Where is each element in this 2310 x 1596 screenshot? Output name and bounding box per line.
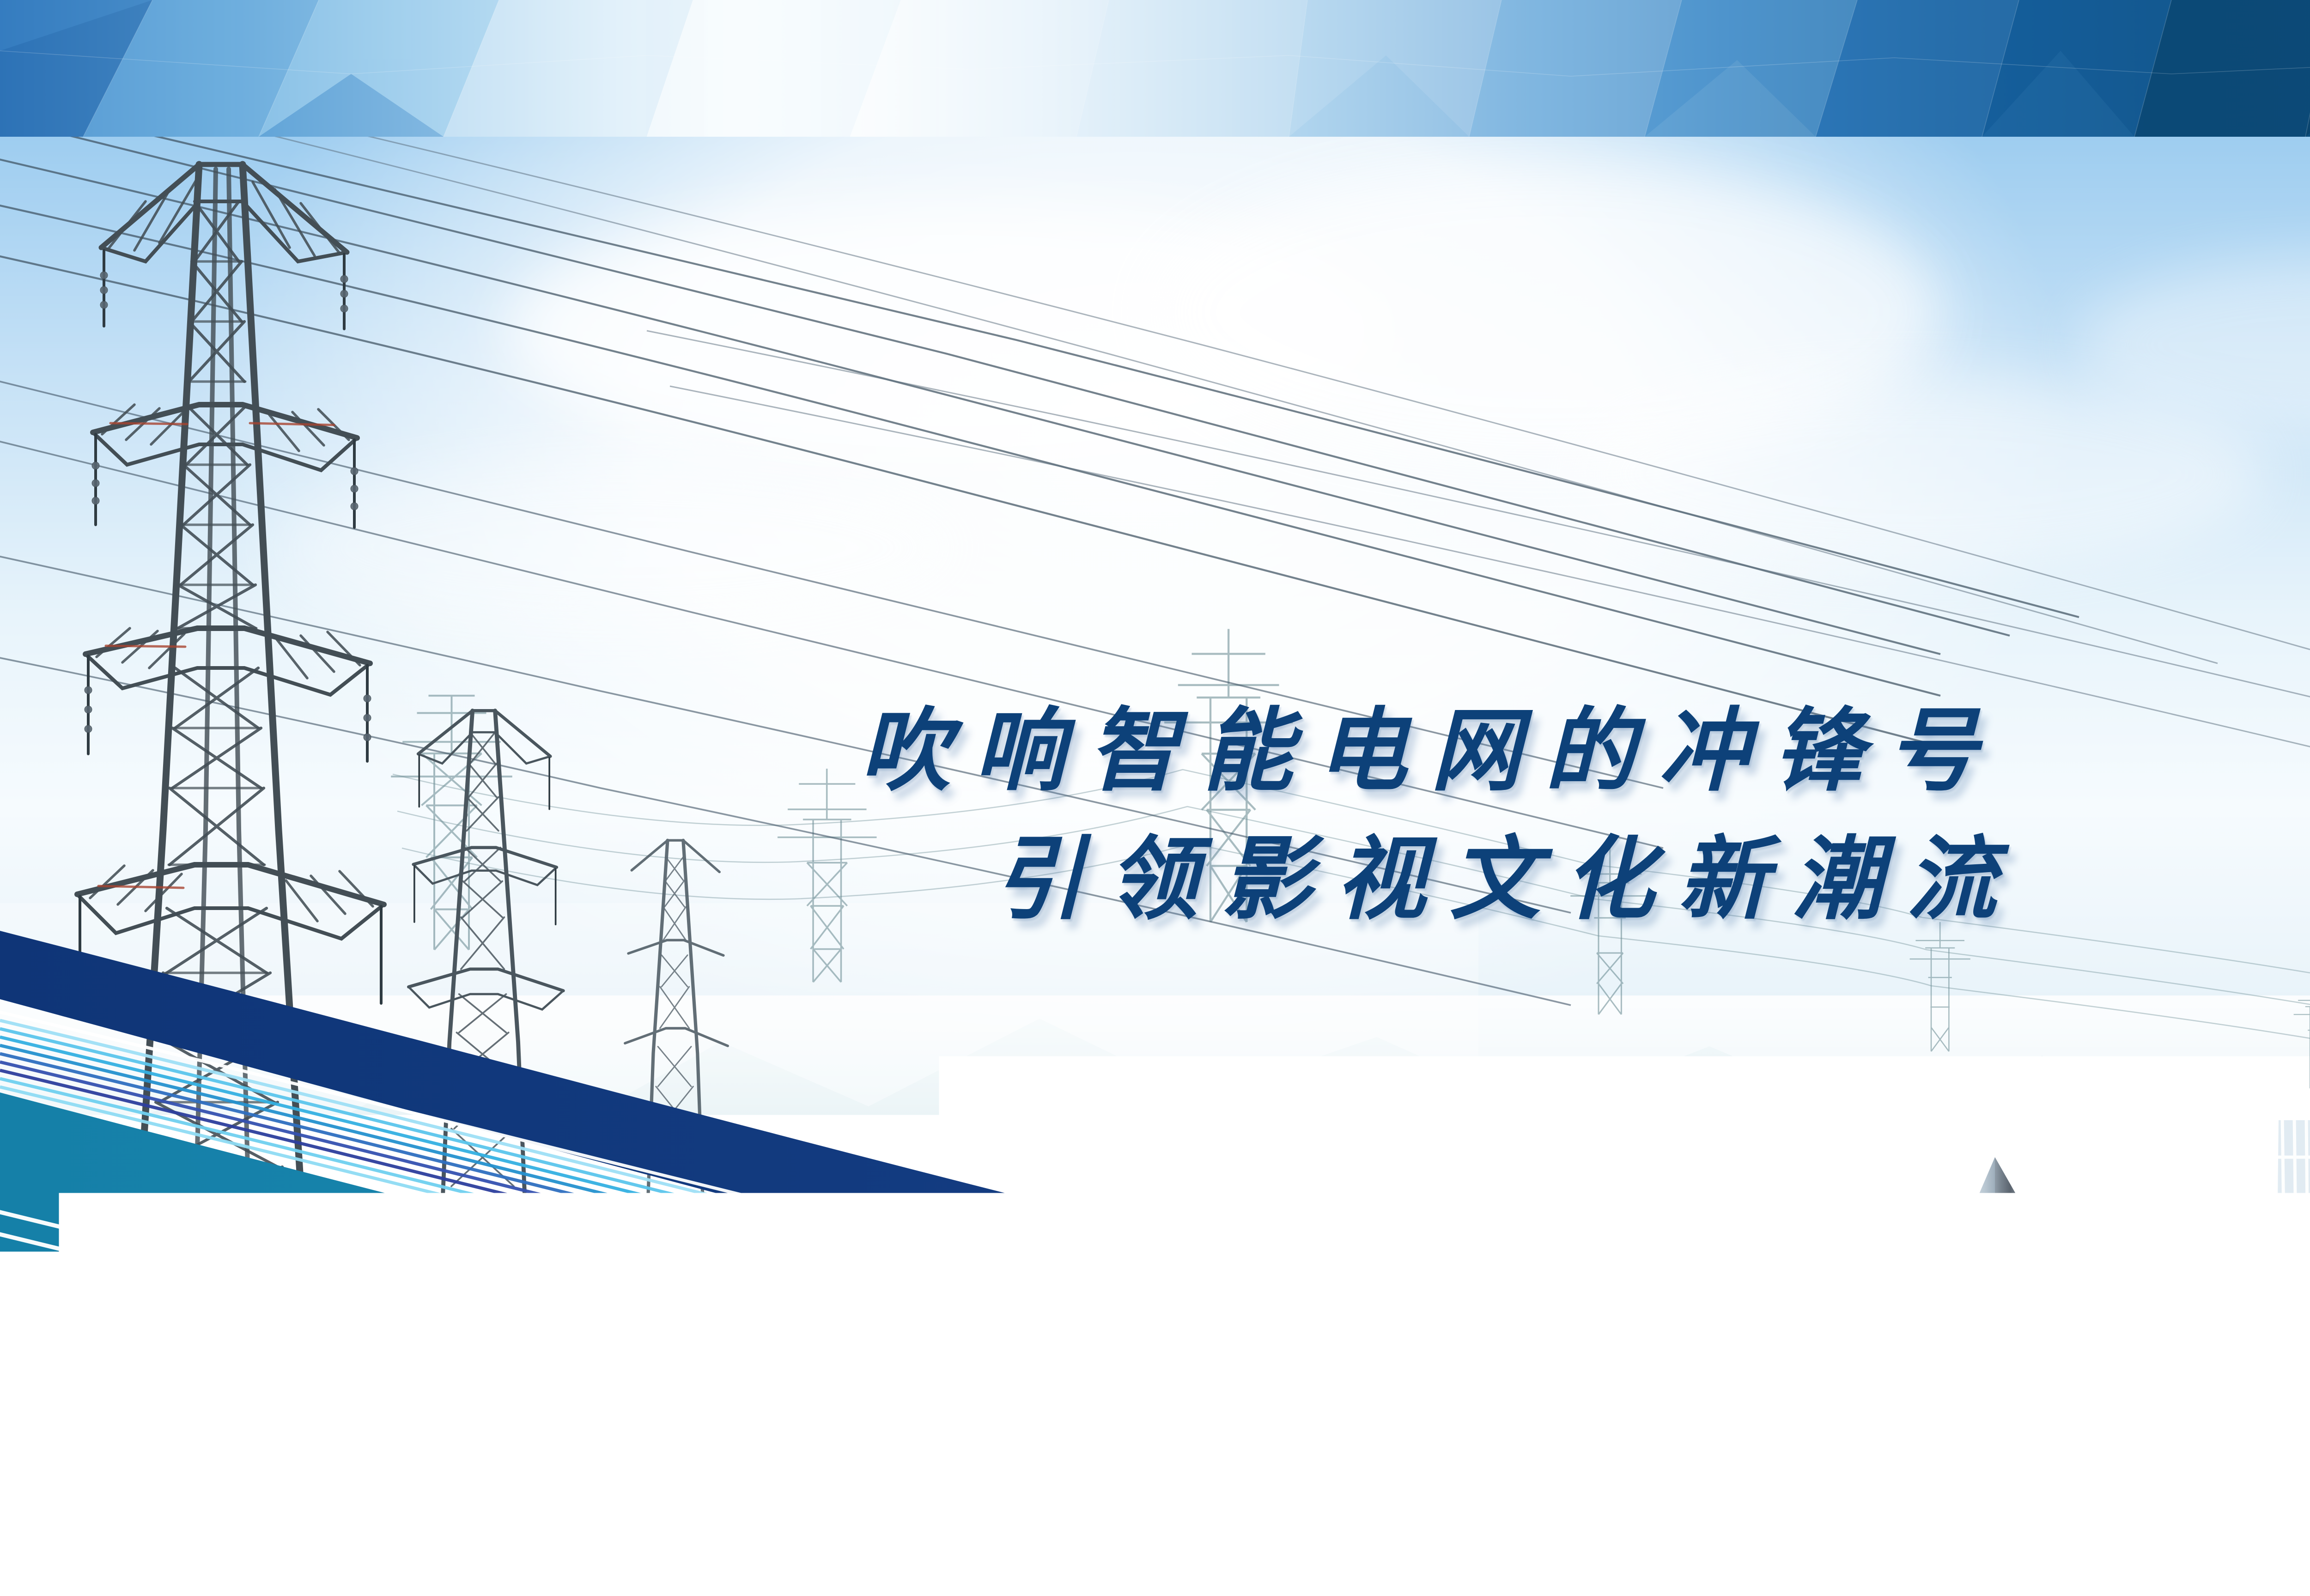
banner-canvas: 吹响智能电网的冲锋号 引领影视文化新潮流 [0, 0, 2310, 1596]
scene-photo: 吹响智能电网的冲锋号 引领影视文化新潮流 [0, 137, 2310, 1596]
top-polygon-band [0, 0, 2310, 137]
transmission-tower [0, 137, 2310, 1596]
